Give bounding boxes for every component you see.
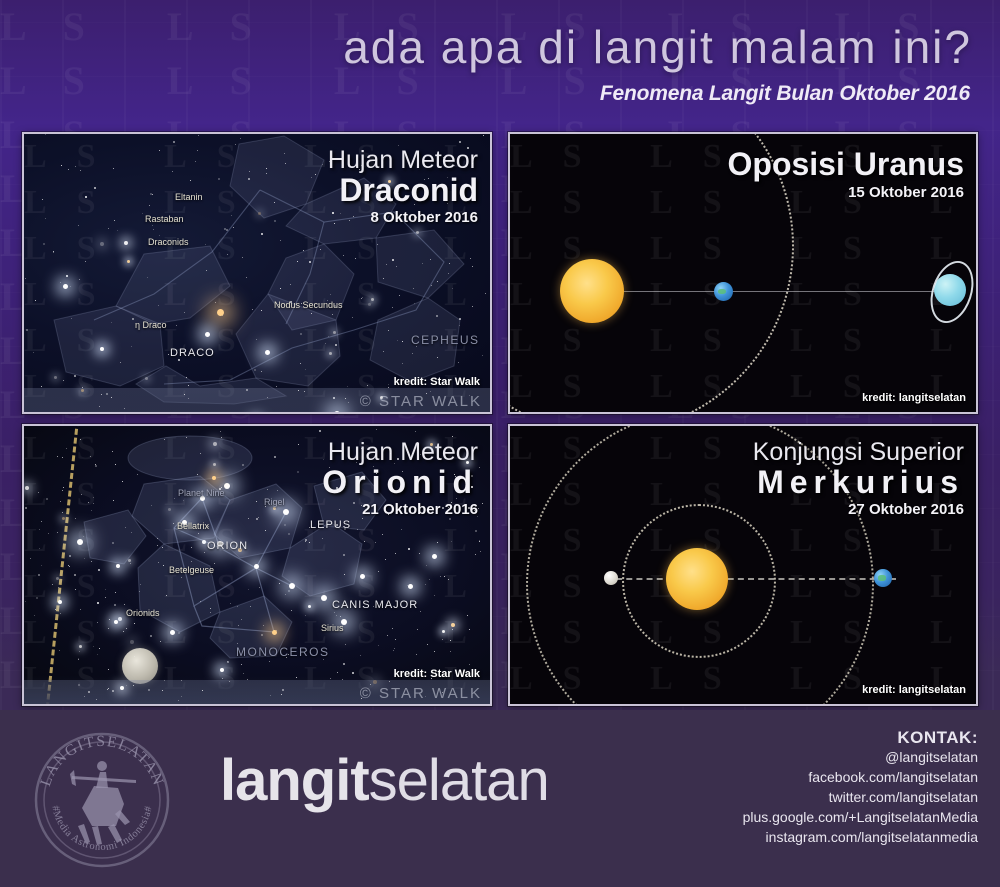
bright-star [63, 284, 68, 289]
star [274, 202, 275, 203]
star [276, 386, 277, 387]
star [361, 298, 362, 299]
star [164, 439, 165, 440]
star [176, 325, 177, 326]
star [48, 533, 49, 534]
sagittarius-archer-figure [70, 761, 136, 845]
star [261, 634, 263, 636]
bright-star [254, 564, 259, 569]
star [131, 532, 132, 533]
star [229, 681, 230, 682]
star [288, 590, 290, 592]
bright-star [220, 668, 224, 672]
star [323, 459, 324, 460]
sky-label: Rastaban [145, 214, 184, 224]
sky-label: Orionids [126, 608, 160, 618]
star [362, 297, 363, 298]
bright-star [408, 584, 413, 589]
moon-body [122, 648, 158, 684]
sky-label: Planet Nine [178, 488, 225, 498]
star [140, 584, 141, 585]
star [408, 548, 410, 550]
star [97, 622, 98, 623]
star [361, 698, 362, 699]
star [114, 220, 115, 221]
star [248, 518, 249, 519]
star [148, 689, 150, 691]
bright-star [116, 564, 120, 568]
star [387, 635, 388, 636]
panel-orionid[interactable]: LS LS LS LS LS LS LS LS LS LS LS LS LS L… [22, 424, 492, 706]
bright-star [170, 630, 175, 635]
sky-label: Bellatrix [177, 521, 209, 531]
sky-label: CEPHEUS [411, 333, 480, 347]
star [214, 563, 215, 564]
star [285, 163, 286, 164]
star [195, 161, 196, 162]
star [85, 196, 87, 198]
star [297, 471, 299, 473]
star [471, 475, 473, 477]
starwalk-watermark: © STAR WALK [360, 393, 482, 410]
star [413, 288, 414, 289]
brand-wordmark: langitselatan [220, 752, 549, 810]
star [261, 371, 262, 372]
star [414, 303, 415, 304]
poster-root: LS LS LS LS LS LS LS LS LS LS LS LS LS L… [0, 0, 1000, 887]
star [397, 340, 398, 341]
starwalk-watermark: © STAR WALK [360, 685, 482, 702]
star [202, 690, 203, 691]
star [184, 312, 185, 313]
sky-label: MONOCEROS [236, 645, 330, 659]
earth-body [714, 282, 733, 301]
star [254, 369, 256, 371]
star [118, 617, 122, 621]
contact-block: KONTAK: @langitselatan facebook.com/lang… [743, 728, 978, 847]
bright-star [283, 509, 289, 515]
bright-star [100, 347, 104, 351]
bright-star [58, 600, 62, 604]
star [113, 168, 114, 169]
star [450, 651, 451, 652]
sky-label: CANIS MAJOR [332, 599, 418, 611]
star [290, 284, 291, 285]
star [332, 212, 334, 214]
star [78, 684, 80, 686]
brand-light: selatan [369, 748, 549, 813]
sky-label: LEPUS [310, 519, 351, 531]
star [426, 565, 427, 566]
star [123, 631, 124, 632]
star [63, 487, 64, 488]
mercury-body [604, 571, 618, 585]
panel-credit: kredit: Star Walk [394, 668, 480, 680]
star [297, 261, 298, 262]
star [468, 507, 470, 509]
sky-label: Eltanin [175, 192, 203, 202]
star [241, 619, 242, 620]
star [373, 680, 377, 684]
panel-draconid[interactable]: LS LS LS LS LS LS LS LS LS LS LS LS LS L… [22, 132, 492, 414]
star [215, 302, 216, 303]
star [416, 231, 419, 234]
star [248, 178, 250, 180]
star [66, 448, 67, 449]
star [97, 602, 99, 604]
star [152, 225, 153, 226]
sky-label: Sirius [321, 623, 344, 633]
star [393, 650, 394, 651]
star [353, 216, 354, 217]
star [352, 672, 354, 674]
page-subtitle: Fenomena Langit Bulan Oktober 2016 [600, 82, 970, 106]
star [361, 165, 362, 166]
star [117, 230, 118, 231]
star [392, 259, 394, 261]
star [427, 644, 428, 645]
star [188, 385, 189, 386]
star [340, 213, 341, 214]
star [39, 548, 40, 549]
sky-label: Draconids [148, 237, 189, 247]
star [205, 244, 206, 245]
star [99, 406, 100, 407]
langitselatan-seal-logo: LANGITSELATAN #Media Astronomi Indonesia… [32, 730, 172, 870]
star [53, 252, 54, 253]
contact-title: KONTAK: [743, 728, 978, 748]
panel-credit: kredit: Star Walk [394, 376, 480, 388]
star [45, 218, 46, 219]
sky-label: ORION [207, 540, 248, 552]
star [137, 474, 138, 475]
star [475, 530, 477, 532]
star [469, 395, 470, 396]
star [378, 571, 379, 572]
star [395, 193, 396, 194]
star [213, 463, 216, 466]
brand-bold: langit [220, 748, 369, 813]
star [227, 254, 228, 255]
star [267, 397, 268, 398]
star [280, 240, 281, 241]
bright-star [212, 476, 216, 480]
star [333, 331, 336, 334]
bright-star [272, 630, 277, 635]
star [375, 542, 376, 543]
star [428, 178, 429, 179]
star [97, 654, 98, 655]
star [153, 229, 154, 230]
star [320, 249, 321, 250]
page-title: ada apa di langit malam ini? [343, 20, 972, 74]
star [296, 677, 297, 678]
star [450, 640, 451, 641]
sky-label: Nodus Secundus [274, 300, 343, 310]
star [309, 261, 311, 263]
star [59, 650, 60, 651]
star [113, 500, 114, 501]
star [417, 629, 418, 630]
star [246, 389, 248, 391]
star [105, 589, 106, 590]
sky-label: Betelgeuse [169, 565, 214, 575]
star [388, 330, 389, 331]
bright-star [360, 574, 365, 579]
sun-body [666, 548, 728, 610]
star [420, 611, 421, 612]
star [394, 463, 395, 464]
star [222, 678, 223, 679]
star [75, 518, 76, 519]
star [424, 179, 425, 180]
star [93, 646, 94, 647]
earth-body [874, 569, 892, 587]
star [449, 518, 451, 520]
bright-star [77, 539, 83, 545]
alignment-line [608, 291, 958, 292]
star [442, 630, 445, 633]
star [425, 584, 426, 585]
star [392, 628, 393, 629]
star [467, 147, 469, 149]
star [41, 565, 42, 566]
star [150, 635, 152, 637]
star [62, 490, 63, 491]
bright-star [265, 350, 270, 355]
contact-instagram[interactable]: instagram.com/langitselatanmedia [743, 828, 978, 848]
star [472, 266, 473, 267]
star [469, 629, 470, 630]
star [467, 615, 468, 616]
star [430, 443, 433, 446]
star [106, 393, 108, 395]
star [220, 431, 221, 432]
star [242, 464, 244, 466]
star [416, 654, 417, 655]
star [396, 266, 397, 267]
star [202, 540, 206, 544]
panel-credit: kredit: langitselatan [862, 392, 966, 404]
star [35, 300, 36, 301]
star [380, 396, 383, 399]
star [247, 679, 248, 680]
star [344, 574, 345, 575]
star [124, 408, 125, 409]
contact-googleplus[interactable]: plus.google.com/+LangitselatanMedia [743, 808, 978, 828]
star [108, 228, 109, 229]
panel-oposisi-uranus[interactable]: LS LS LS LS LS LS LS LS LS LS LS LS LS L… [508, 132, 978, 414]
star [258, 212, 261, 215]
star [188, 398, 189, 399]
star [267, 489, 268, 490]
star [265, 530, 266, 531]
star [388, 514, 389, 515]
star [270, 695, 271, 696]
star [60, 613, 61, 614]
bright-star [217, 309, 224, 316]
draco-constellation-art [24, 134, 490, 412]
star [151, 505, 152, 506]
star [173, 141, 175, 143]
sky-label: Rigel [264, 497, 285, 507]
star [256, 501, 257, 502]
star [333, 397, 335, 399]
bright-star [114, 620, 118, 624]
star [315, 174, 316, 175]
panel-credit: kredit: langitselatan [862, 684, 966, 696]
bright-star [432, 554, 437, 559]
star [308, 605, 311, 608]
sky-label: DRACO [170, 347, 215, 359]
star [456, 498, 457, 499]
star [399, 295, 400, 296]
star [250, 606, 251, 607]
star [300, 333, 302, 335]
star [266, 168, 267, 169]
star [159, 235, 160, 236]
star [274, 220, 276, 222]
star [70, 286, 71, 287]
star [74, 574, 76, 576]
contact-facebook[interactable]: facebook.com/langitselatan [743, 768, 978, 788]
star [482, 503, 483, 504]
star [392, 307, 393, 308]
poster-header: ada apa di langit malam ini? Fenomena La… [0, 0, 1000, 128]
star [191, 561, 192, 562]
star [114, 604, 116, 606]
star [479, 467, 480, 468]
star [458, 362, 459, 363]
sun-body [560, 259, 624, 323]
star [475, 554, 476, 555]
star [25, 507, 27, 509]
star [466, 461, 469, 464]
star [26, 329, 28, 331]
alignment-line [606, 578, 896, 580]
star [74, 375, 76, 377]
star [124, 241, 128, 245]
star [162, 690, 163, 691]
star [120, 686, 124, 690]
star [112, 690, 114, 692]
star [128, 559, 131, 562]
star [93, 497, 94, 498]
star [277, 490, 278, 491]
bright-star [205, 332, 210, 337]
star [349, 220, 350, 221]
contact-twitter[interactable]: twitter.com/langitselatan [743, 788, 978, 808]
contact-handle[interactable]: @langitselatan [743, 748, 978, 768]
star [434, 595, 435, 596]
star [342, 679, 343, 680]
star [437, 281, 438, 282]
star [422, 263, 423, 264]
star [448, 273, 449, 274]
star [166, 595, 167, 596]
bright-star [321, 595, 327, 601]
star [343, 255, 344, 256]
star [132, 318, 134, 320]
star [181, 680, 182, 681]
star [190, 180, 191, 181]
sky-label: η Draco [135, 320, 167, 330]
star [152, 194, 153, 195]
star [181, 577, 182, 578]
star [357, 529, 358, 530]
star [383, 278, 384, 279]
star [337, 672, 338, 673]
star [25, 278, 26, 279]
star [237, 643, 238, 644]
star [258, 517, 259, 518]
panel-konjungsi-merkurius[interactable]: LS LS LS LS LS LS LS LS LS LS LS LS LS L… [508, 424, 978, 706]
star [178, 632, 180, 634]
star [43, 243, 45, 245]
star [58, 587, 59, 588]
star [168, 354, 169, 355]
star [242, 257, 243, 258]
star [25, 486, 29, 490]
star [322, 164, 323, 165]
bright-star [289, 583, 295, 589]
star [376, 429, 377, 430]
star [477, 516, 478, 517]
star [303, 250, 304, 251]
bright-star [334, 411, 340, 414]
